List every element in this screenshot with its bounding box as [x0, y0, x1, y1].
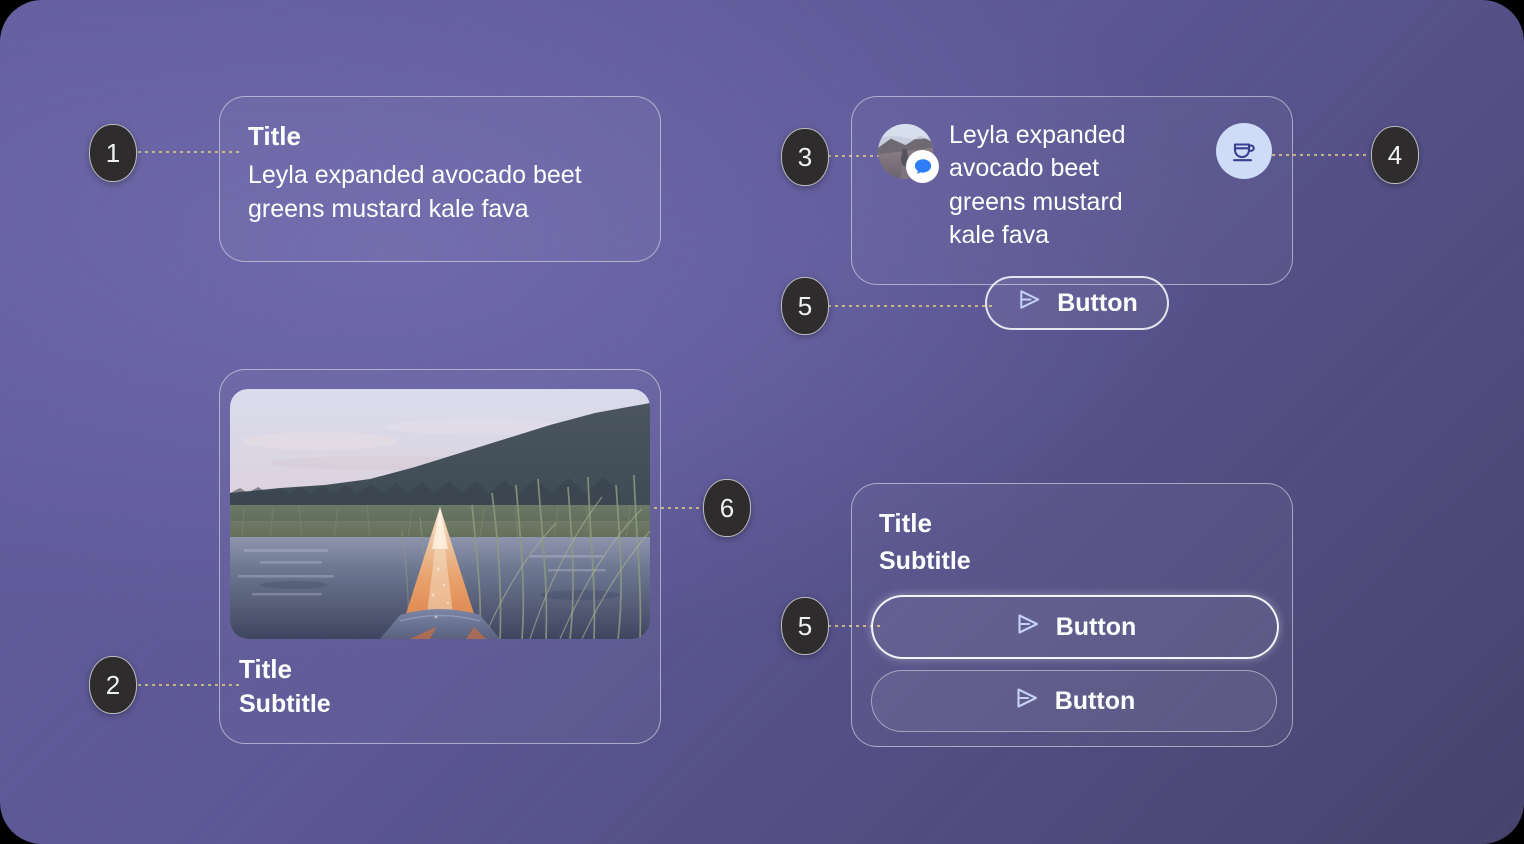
callout-badge-2-number: 2: [106, 672, 120, 698]
buttons-card-button-primary[interactable]: Button: [871, 595, 1279, 659]
text-card-title: Title: [248, 123, 632, 150]
callout-badge-3-number: 3: [798, 144, 812, 170]
buttons-card-button-primary-label: Button: [1056, 613, 1137, 642]
avatar-card[interactable]: Leyla expanded avocado beet greens musta…: [851, 96, 1293, 285]
screenshot-root: 1 2 3 4 5 5 6 Title Leyla expanded avoca…: [0, 0, 1524, 844]
kayak-lake-photo: [230, 389, 650, 639]
callout-badge-5-top[interactable]: 5: [781, 277, 829, 335]
media-card-title: Title: [239, 655, 331, 684]
avatar-card-content: Leyla expanded avocado beet greens musta…: [852, 97, 1292, 252]
buttons-card-button-secondary[interactable]: Button: [871, 670, 1277, 732]
text-card-content: Title Leyla expanded avocado beet greens…: [220, 97, 660, 226]
buttons-card-subtitle: Subtitle: [879, 547, 971, 576]
send-icon: [1013, 684, 1041, 719]
callout-badge-6[interactable]: 6: [703, 479, 751, 537]
send-icon: [1014, 610, 1042, 645]
avatar-card-button[interactable]: Button: [985, 276, 1169, 330]
text-card[interactable]: Title Leyla expanded avocado beet greens…: [219, 96, 661, 262]
avatar[interactable]: [878, 124, 933, 179]
callout-badge-5-bottom[interactable]: 5: [781, 597, 829, 655]
callout-badge-1-number: 1: [106, 140, 120, 166]
connector-line-5-top: [828, 305, 996, 307]
media-card[interactable]: Title Subtitle: [219, 369, 661, 744]
callout-badge-5-bottom-number: 5: [798, 613, 812, 639]
callout-badge-1[interactable]: 1: [89, 124, 137, 182]
media-card-caption: Title Subtitle: [239, 655, 331, 718]
avatar-card-body: Leyla expanded avocado beet greens musta…: [949, 119, 1167, 252]
avatar-card-button-label: Button: [1057, 289, 1138, 318]
callout-badge-4[interactable]: 4: [1371, 126, 1419, 184]
callout-badge-5-top-number: 5: [798, 293, 812, 319]
callout-badge-3[interactable]: 3: [781, 128, 829, 186]
coffee-cup-icon[interactable]: [1216, 123, 1272, 179]
send-icon: [1016, 286, 1043, 320]
buttons-card-button-secondary-label: Button: [1055, 687, 1136, 716]
callout-badge-4-number: 4: [1388, 142, 1402, 168]
buttons-card-title: Title: [879, 509, 932, 538]
media-card-subtitle: Subtitle: [239, 691, 331, 719]
text-card-body: Leyla expanded avocado beet greens musta…: [248, 159, 632, 226]
callout-badge-6-number: 6: [720, 495, 734, 521]
chat-bubble-icon: [906, 150, 939, 183]
callout-badge-2[interactable]: 2: [89, 656, 137, 714]
